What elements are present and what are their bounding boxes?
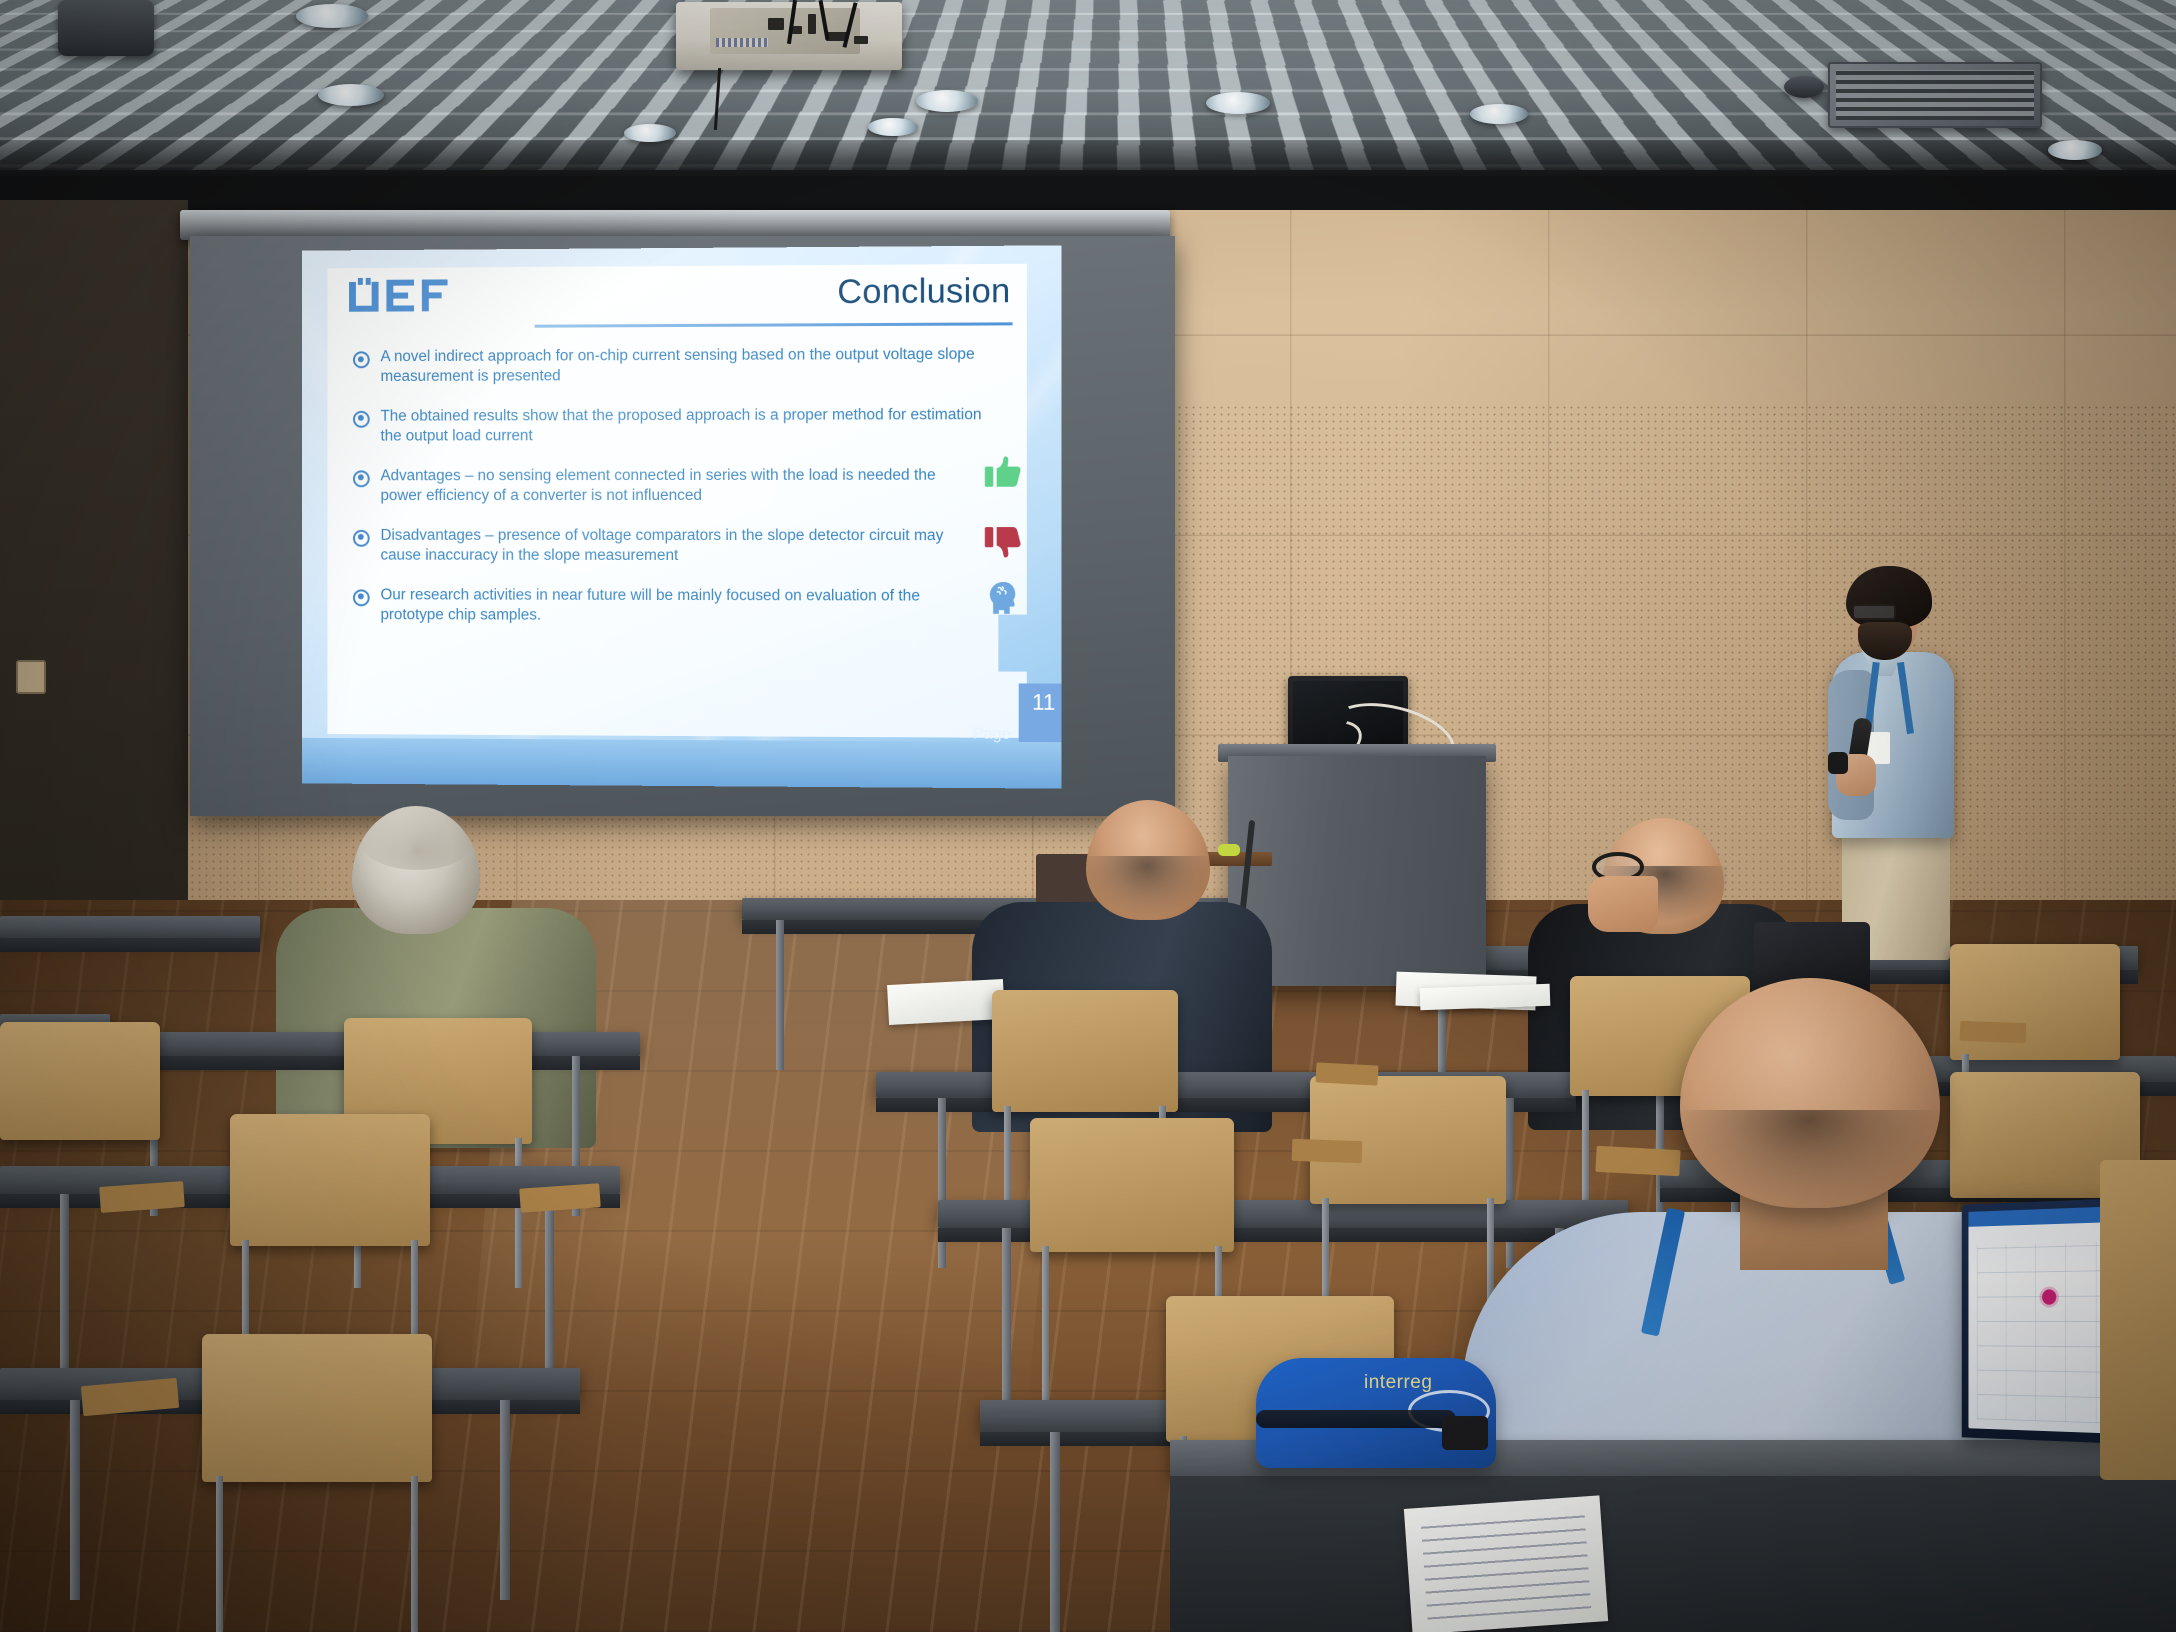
slide-bullet-item: Disadvantages – presence of voltage comp… bbox=[353, 526, 982, 567]
projection-screen: Conclusion A novel indirect approach for… bbox=[190, 236, 1175, 816]
papers bbox=[1420, 984, 1551, 1011]
slide-footer-band bbox=[302, 738, 1062, 789]
desk-wood-edge bbox=[1316, 1062, 1379, 1085]
ceiling-light-icon bbox=[2048, 140, 2102, 160]
map-marker-icon[interactable] bbox=[2042, 1289, 2056, 1304]
presenter bbox=[1810, 566, 2010, 966]
bullet-marker-icon bbox=[353, 411, 370, 428]
slide-bullet-item: Advantages – no sensing element connecte… bbox=[353, 466, 982, 507]
chair[interactable] bbox=[202, 1334, 432, 1482]
eyeglasses-icon bbox=[1852, 604, 1896, 620]
ceiling-light-icon bbox=[318, 84, 384, 106]
lecture-hall-scene: Conclusion A novel indirect approach for… bbox=[0, 0, 2176, 1632]
bullet-text: Our research activities in near future w… bbox=[381, 585, 983, 627]
papers bbox=[887, 979, 1005, 1025]
head-with-gears-icon bbox=[982, 578, 1025, 618]
bullet-marker-icon bbox=[353, 470, 370, 487]
green-object bbox=[1218, 844, 1240, 856]
bullet-marker-icon bbox=[353, 589, 370, 606]
chair[interactable] bbox=[1950, 944, 2120, 1060]
attendee-hair bbox=[1082, 856, 1212, 918]
ceiling-light-icon bbox=[916, 90, 978, 112]
slide-bullet-list: A novel indirect approach for on-chip cu… bbox=[353, 345, 982, 647]
presentation-clicker-icon[interactable] bbox=[1828, 752, 1848, 774]
desk-wood-edge bbox=[1960, 1021, 2027, 1043]
page-label: Page bbox=[973, 726, 1011, 744]
desk-wood-edge bbox=[1595, 1146, 1680, 1176]
slide-title: Conclusion bbox=[837, 272, 1010, 312]
presentation-slide: Conclusion A novel indirect approach for… bbox=[302, 245, 1062, 788]
bag-strap bbox=[1442, 1416, 1488, 1450]
thumbs-down-icon bbox=[982, 522, 1025, 562]
projector-vents bbox=[716, 38, 768, 47]
air-vent bbox=[1828, 62, 2042, 128]
bullet-text: Advantages – no sensing element connecte… bbox=[381, 466, 983, 507]
desk bbox=[0, 916, 260, 938]
slide-bullet-item: Our research activities in near future w… bbox=[353, 585, 982, 627]
ceiling-light-icon bbox=[868, 118, 918, 136]
bullet-text: A novel indirect approach for on-chip cu… bbox=[381, 345, 983, 388]
chair[interactable] bbox=[1030, 1118, 1234, 1252]
conference-bag[interactable]: interreg bbox=[1256, 1358, 1496, 1468]
bullet-text: Disadvantages – presence of voltage comp… bbox=[381, 526, 983, 567]
wall-top-shadow bbox=[0, 176, 2176, 210]
bullet-marker-icon bbox=[353, 530, 370, 547]
desk-wood-edge bbox=[1292, 1139, 1363, 1163]
ceiling-light-icon bbox=[1470, 104, 1528, 124]
ceiling-spotlight-icon bbox=[58, 0, 154, 56]
attendee-hair bbox=[358, 806, 476, 870]
page-number: 11 bbox=[1032, 690, 1055, 716]
chair[interactable] bbox=[230, 1114, 430, 1246]
chair[interactable] bbox=[0, 1022, 160, 1140]
air-vent-louvers bbox=[1836, 70, 2034, 120]
bag-zipper bbox=[1256, 1410, 1456, 1428]
bullet-marker-icon bbox=[353, 351, 370, 368]
ceiling-light-icon bbox=[624, 124, 676, 142]
attendee-hand bbox=[1588, 876, 1658, 932]
bullet-text: The obtained results show that the propo… bbox=[381, 405, 983, 447]
chair[interactable] bbox=[992, 990, 1178, 1112]
ceiling-camera-lens-icon bbox=[1784, 76, 1824, 98]
thumbs-up-icon bbox=[982, 451, 1025, 491]
handout-paper bbox=[1404, 1495, 1608, 1632]
wall-socket-icon bbox=[16, 660, 46, 694]
projector-board bbox=[710, 8, 860, 54]
ceiling-light-icon bbox=[1206, 92, 1270, 114]
paper-text-lines bbox=[1421, 1514, 1591, 1619]
chair[interactable] bbox=[2100, 1160, 2176, 1480]
side-wall-left bbox=[0, 200, 188, 900]
slide-bullet-item: The obtained results show that the propo… bbox=[353, 405, 982, 447]
ceiling-light-icon bbox=[296, 4, 368, 28]
slide-bullet-item: A novel indirect approach for on-chip cu… bbox=[353, 345, 982, 388]
uef-logo-icon bbox=[349, 277, 463, 321]
